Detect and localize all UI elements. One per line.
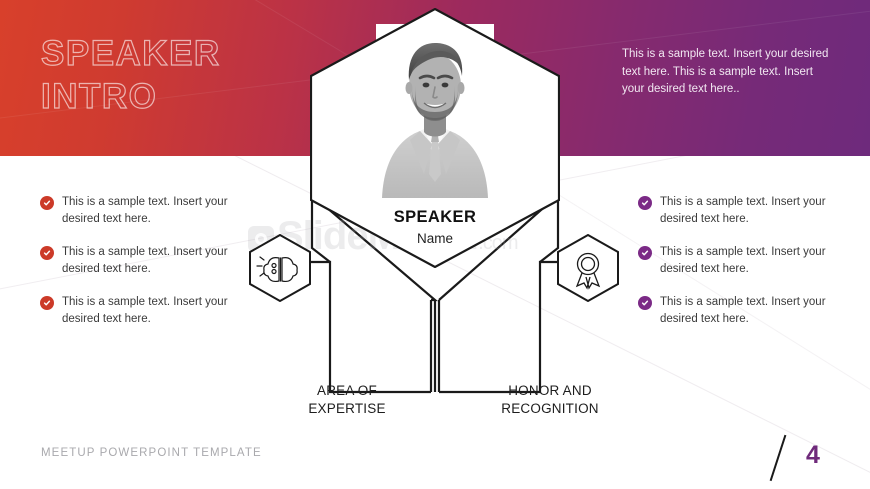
page-title: SPEAKER INTRO bbox=[41, 32, 221, 118]
list-item-text: This is a sample text. Insert your desir… bbox=[62, 244, 240, 277]
list-item-text: This is a sample text. Insert your desir… bbox=[660, 244, 838, 277]
footer-label: MEETUP POWERPOINT TEMPLATE bbox=[41, 447, 262, 459]
list-item-text: This is a sample text. Insert your desir… bbox=[62, 194, 240, 227]
speaker-hexagon: SPEAKER Name bbox=[310, 8, 560, 268]
check-circle-icon bbox=[638, 246, 652, 260]
list-item[interactable]: This is a sample text. Insert your desir… bbox=[40, 294, 240, 327]
check-circle-icon bbox=[638, 296, 652, 310]
check-circle-icon bbox=[40, 196, 54, 210]
list-item[interactable]: This is a sample text. Insert your desir… bbox=[40, 194, 240, 227]
speaker-name: Name bbox=[310, 231, 560, 246]
expertise-caption: AREA OF EXPERTISE bbox=[268, 382, 426, 418]
check-circle-icon bbox=[638, 196, 652, 210]
speaker-label: SPEAKER bbox=[310, 208, 560, 227]
list-item-text: This is a sample text. Insert your desir… bbox=[660, 294, 838, 327]
page-number: 4 bbox=[806, 441, 820, 470]
bullet-list-right: This is a sample text. Insert your desir… bbox=[638, 194, 838, 327]
list-item[interactable]: This is a sample text. Insert your desir… bbox=[638, 194, 838, 227]
page-number-slash bbox=[770, 435, 787, 481]
slide-canvas: SPEAKER INTRO This is a sample text. Ins… bbox=[0, 0, 870, 489]
avatar bbox=[376, 24, 494, 198]
check-circle-icon bbox=[40, 296, 54, 310]
list-item[interactable]: This is a sample text. Insert your desir… bbox=[40, 244, 240, 277]
expertise-hexagon[interactable] bbox=[249, 234, 311, 302]
list-item-text: This is a sample text. Insert your desir… bbox=[660, 194, 838, 227]
check-circle-icon bbox=[40, 246, 54, 260]
honor-hexagon[interactable] bbox=[557, 234, 619, 302]
bullet-list-left: This is a sample text. Insert your desir… bbox=[40, 194, 240, 327]
list-item-text: This is a sample text. Insert your desir… bbox=[62, 294, 240, 327]
banner-description-text: This is a sample text. Insert your desir… bbox=[622, 46, 832, 99]
honor-caption: HONOR AND RECOGNITION bbox=[460, 382, 640, 418]
speaker-name-block: SPEAKER Name bbox=[310, 208, 560, 246]
list-item[interactable]: This is a sample text. Insert your desir… bbox=[638, 294, 838, 327]
list-item[interactable]: This is a sample text. Insert your desir… bbox=[638, 244, 838, 277]
